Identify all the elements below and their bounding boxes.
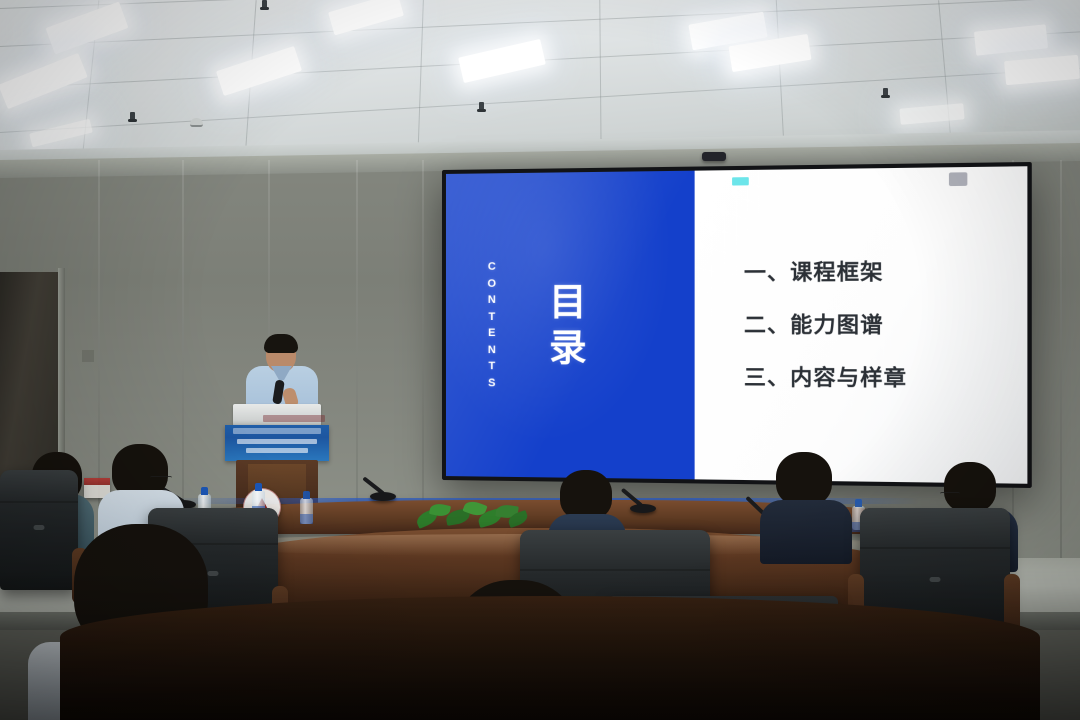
eyeglasses-icon [940,492,960,497]
wall-camera-icon [702,152,726,161]
foreground-table [60,596,1040,720]
toc-item-1: 一、课程框架 [744,260,1027,283]
speaker-hair [264,334,298,353]
slide-cyan-badge [732,177,749,185]
slide-title: 目 录 [549,279,588,370]
contents-letter: C [487,259,496,276]
screen-bezel: C O N T E N T S 目 录 一、课程框架 [442,162,1032,488]
slide-right-panel: 一、课程框架 二、能力图谱 三、内容与样章 [695,166,1028,484]
ceiling-dome-camera-icon [190,118,203,127]
sprinkler-head [479,102,484,111]
chair-headrest [520,530,710,571]
chair-button [930,577,941,582]
chair-headrest [860,508,1010,549]
toc-item-3: 三、内容与样章 [744,367,1027,390]
podium-top-logo [263,415,325,422]
sprinkler-head [130,112,135,121]
audience-head [776,452,832,506]
contents-letter: T [487,308,496,325]
slide-title-char: 目 [549,279,588,325]
audience-head [560,470,612,520]
contents-letter: N [487,342,496,359]
water-bottle [300,498,313,524]
sprinkler-head [883,88,888,97]
wall-panel-seam [1060,160,1062,560]
conference-room-photo: C O N T E N T S 目 录 一、课程框架 [0,0,1080,720]
eyeglasses-icon [150,476,172,481]
slide-gray-badge [948,172,966,186]
wall-socket-plate [82,350,94,362]
contents-vertical-label: C O N T E N T S [487,259,496,392]
contents-letter: T [487,358,496,375]
audience-member [760,452,852,562]
audience-head [944,462,996,512]
chair-headrest [0,470,78,503]
microphone-base [370,492,396,501]
podium-banner-line-2 [246,448,308,453]
podium-banner-logos [233,428,321,434]
slide-left-panel: C O N T E N T S 目 录 [446,171,695,480]
slide-title-char: 录 [549,325,588,371]
toc-item-2: 二、能力图谱 [744,314,1027,336]
contents-letter: E [487,325,496,342]
contents-letter: S [487,375,496,392]
podium-top-plate [233,404,321,426]
podium-banner [225,425,329,461]
projection-screen: C O N T E N T S 目 录 一、课程框架 [442,162,1032,488]
contents-letter: O [487,275,496,292]
presentation-slide: C O N T E N T S 目 录 一、课程框架 [446,166,1027,484]
microphone-base [630,504,656,513]
sprinkler-head [262,0,267,9]
contents-letter: N [487,292,496,309]
podium-banner-line-1 [237,439,317,444]
audience-body [760,500,852,564]
